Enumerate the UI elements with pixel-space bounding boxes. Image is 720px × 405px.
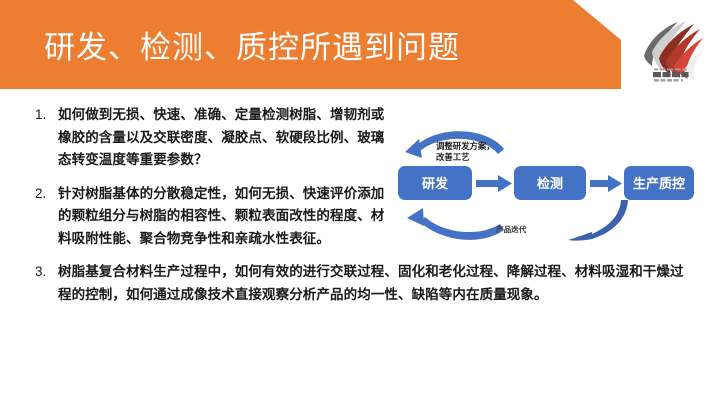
rog-eye-logo bbox=[632, 12, 708, 86]
stage-box-test[interactable]: 检测 bbox=[514, 166, 586, 200]
list-item: 3. 树脂基复合材料生产过程中，如何有效的进行交联过程、固化和老化过程、降解过程… bbox=[32, 261, 692, 306]
feedback-note-line2: 改善工艺 bbox=[436, 152, 470, 162]
list-item-number: 3. bbox=[32, 261, 58, 284]
list-item-text: 如何做到无损、快速、准确、定量检测树脂、增韧剂或橡胶的含量以及交联密度、凝胶点、… bbox=[58, 104, 394, 172]
feedback-note-line1: 调整研发方案， bbox=[436, 141, 495, 151]
list-item-number: 1. bbox=[32, 104, 58, 127]
list-item-text: 树脂基复合材料生产过程中，如何有效的进行交联过程、固化和老化过程、降解过程、材料… bbox=[58, 261, 688, 306]
iteration-caption: 产品迭代 bbox=[496, 224, 527, 234]
slide-canvas: 研发、检测、质控所遇到问题 bbox=[0, 0, 720, 405]
list-item-text: 针对树脂基体的分散稳定性，如何无损、快速评价添加的颗粒组分与树脂的相容性、颗粒表… bbox=[58, 183, 394, 251]
list-item-number: 2. bbox=[32, 183, 58, 206]
iteration-arrow-bottom bbox=[407, 208, 504, 240]
qc-return-arrow bbox=[568, 200, 628, 241]
page-title: 研发、检测、质控所遇到问题 bbox=[44, 26, 460, 70]
stage-box-rd[interactable]: 研发 bbox=[398, 166, 472, 200]
stage-label-test: 检测 bbox=[537, 176, 563, 191]
connector-test-to-qc bbox=[590, 175, 622, 192]
process-diagram: 研发 检测 生产质控 调整研发方案， bbox=[392, 122, 698, 250]
logo-mark bbox=[644, 21, 704, 80]
stage-box-qc[interactable]: 生产质控 bbox=[624, 166, 694, 200]
connector-rd-to-test bbox=[476, 175, 512, 192]
stage-label-rd: 研发 bbox=[422, 176, 449, 191]
stage-label-qc: 生产质控 bbox=[633, 176, 685, 191]
